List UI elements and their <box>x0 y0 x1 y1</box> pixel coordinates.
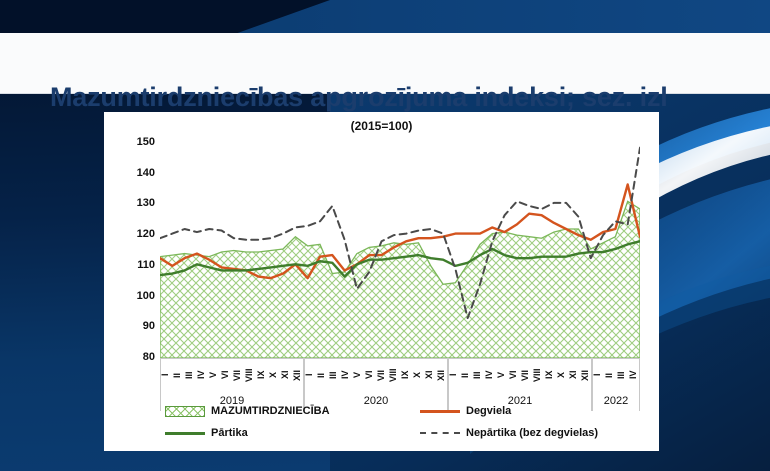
legend-swatch-dashed-icon <box>420 432 460 434</box>
x-axis-year-group-2022: IIIIIIIV2022 <box>592 359 640 411</box>
chart-legend: MAZUMTIRDZNIECĪBADegvielaPārtikaNepārtik… <box>165 405 635 449</box>
x-axis: IIIIIIIVVVIVIIVIIIIXXXIXII2019IIIIIIIVVV… <box>160 358 640 411</box>
x-axis-month-label: IV <box>629 361 641 389</box>
y-axis-tick-140: 140 <box>111 167 155 179</box>
title-bar: Mazumtirdzniecības apgrozījuma indeksi; … <box>0 33 770 94</box>
y-axis-tick-150: 150 <box>111 136 155 148</box>
y-axis-tick-100: 100 <box>111 290 155 302</box>
legend-label: MAZUMTIRDZNIECĪBA <box>211 405 330 417</box>
legend-item-nep-rtika-bez-degvielas-[interactable]: Nepārtika (bez degvielas) <box>420 427 598 439</box>
x-axis-year-group-2021: IIIIIIIVVVIVIIVIIIIXXXIXII2021 <box>448 359 592 411</box>
x-axis-year-group-2019: IIIIIIIVVVIVIIVIIIIXXXIXII2019 <box>160 359 304 411</box>
legend-swatch-line-icon <box>165 432 205 435</box>
y-axis-tick-120: 120 <box>111 228 155 240</box>
chart-panel: (2015=100) 8090100110120130140150 IIIIII… <box>105 113 658 450</box>
y-axis-tick-80: 80 <box>111 351 155 363</box>
page-title: Mazumtirdzniecības apgrozījuma indeksi; … <box>50 82 668 113</box>
legend-item-degviela[interactable]: Degviela <box>420 405 511 417</box>
plot-area <box>160 143 640 358</box>
y-axis-labels: 8090100110120130140150 <box>105 143 155 358</box>
y-axis-tick-90: 90 <box>111 320 155 332</box>
slide: Mazumtirdzniecības apgrozījuma indeksi; … <box>0 0 770 471</box>
legend-item-mazumtirdzniec-ba[interactable]: MAZUMTIRDZNIECĪBA <box>165 405 330 417</box>
y-axis-tick-130: 130 <box>111 197 155 209</box>
legend-swatch-area-icon <box>165 406 205 417</box>
legend-swatch-line-icon <box>420 410 460 413</box>
series-area-mazumtirdzniecība <box>160 201 640 358</box>
legend-item-p-rtika[interactable]: Pārtika <box>165 427 248 439</box>
legend-label: Degviela <box>466 405 511 417</box>
x-axis-year-group-2020: IIIIIIIVVVIVIIVIIIIXXXIXII2020 <box>304 359 448 411</box>
legend-label: Nepārtika (bez degvielas) <box>466 427 598 439</box>
legend-label: Pārtika <box>211 427 248 439</box>
y-axis-tick-110: 110 <box>111 259 155 271</box>
chart-title: (2015=100) <box>105 119 658 133</box>
